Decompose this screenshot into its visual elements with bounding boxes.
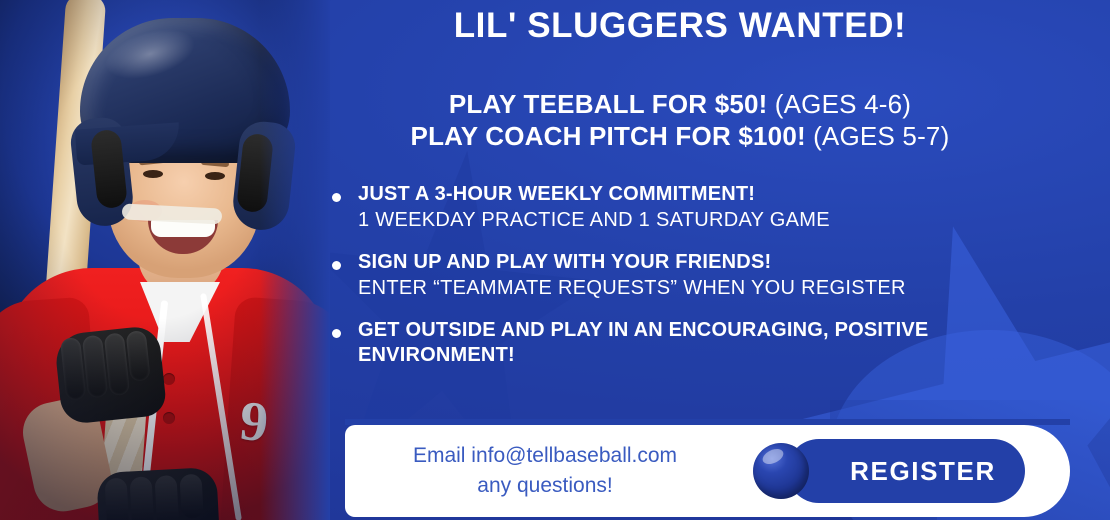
jersey-button bbox=[163, 412, 175, 424]
bullet-headline: JUST A 3-HOUR WEEKLY COMMITMENT! bbox=[358, 182, 1110, 207]
photo-edge-fade bbox=[260, 0, 330, 520]
eye-right bbox=[205, 172, 225, 180]
benefits-list: JUST A 3-HOUR WEEKLY COMMITMENT! 1 WEEKD… bbox=[332, 182, 1110, 384]
baseball-signup-banner: 9 LIL' SL bbox=[0, 0, 1110, 520]
email-line-1: Email info@tellbaseball.com bbox=[345, 441, 745, 471]
bullet-dot-icon bbox=[332, 193, 341, 202]
register-button[interactable]: REGISTER bbox=[753, 439, 1028, 503]
pricing-line-teeball: PLAY TEEBALL FOR $50! (AGES 4-6) bbox=[300, 88, 1060, 120]
pricing-coach-pitch-label: PLAY COACH PITCH FOR $100! bbox=[411, 121, 806, 151]
pricing-block: PLAY TEEBALL FOR $50! (AGES 4-6) PLAY CO… bbox=[300, 88, 1060, 152]
list-item: GET OUTSIDE AND PLAY IN AN ENCOURAGING, … bbox=[332, 318, 1110, 368]
batting-glove-icon bbox=[54, 325, 168, 425]
bullet-subtext: ENTER “TEAMMATE REQUESTS” WHEN YOU REGIS… bbox=[358, 275, 1110, 302]
bullet-headline: SIGN UP AND PLAY WITH YOUR FRIENDS! bbox=[358, 250, 1110, 275]
baseball-ball-icon bbox=[753, 443, 809, 499]
pricing-line-coach-pitch: PLAY COACH PITCH FOR $100! (AGES 5-7) bbox=[300, 120, 1060, 152]
bullet-dot-icon bbox=[332, 329, 341, 338]
cta-bar: Email info@tellbaseball.com any question… bbox=[345, 425, 1070, 517]
list-item: JUST A 3-HOUR WEEKLY COMMITMENT! 1 WEEKD… bbox=[332, 182, 1110, 234]
eye-left bbox=[143, 170, 163, 178]
register-button-pill[interactable]: REGISTER bbox=[787, 439, 1025, 503]
page-title: LIL' SLUGGERS WANTED! bbox=[330, 6, 1030, 46]
pricing-teeball-label: PLAY TEEBALL FOR $50! bbox=[449, 89, 768, 119]
bullet-dot-icon bbox=[332, 261, 341, 270]
player-photo: 9 bbox=[0, 0, 330, 520]
register-button-label: REGISTER bbox=[816, 456, 996, 487]
bullet-subtext: 1 WEEKDAY PRACTICE AND 1 SATURDAY GAME bbox=[358, 207, 1110, 234]
jersey-button bbox=[163, 373, 175, 385]
list-item: SIGN UP AND PLAY WITH YOUR FRIENDS! ENTE… bbox=[332, 250, 1110, 302]
pricing-coach-pitch-ages: (AGES 5-7) bbox=[813, 121, 949, 151]
pricing-teeball-ages: (AGES 4-6) bbox=[775, 89, 911, 119]
contact-email-block: Email info@tellbaseball.com any question… bbox=[345, 441, 745, 501]
batting-glove-icon bbox=[96, 467, 219, 520]
bullet-headline: GET OUTSIDE AND PLAY IN AN ENCOURAGING, … bbox=[358, 318, 1048, 368]
email-line-2: any questions! bbox=[345, 471, 745, 501]
